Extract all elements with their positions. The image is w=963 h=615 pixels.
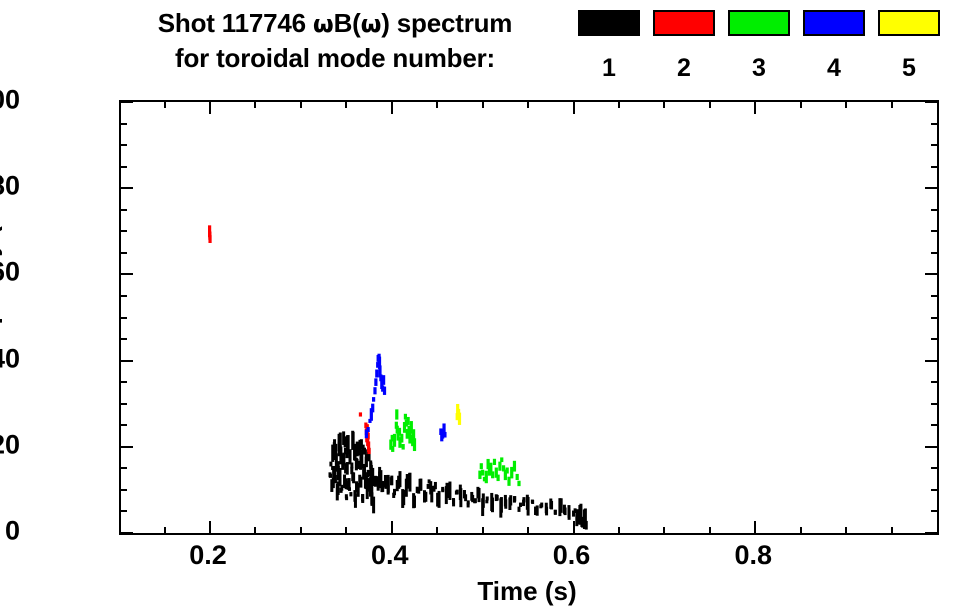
legend-label-row: 12345 [578,54,953,83]
series-n=5 [456,404,460,424]
data-mark [551,501,553,509]
data-mark [393,434,395,446]
data-mark [413,430,415,438]
data-mark [367,428,369,432]
data-mark [370,466,372,480]
data-mark [407,417,409,424]
data-mark [518,481,520,485]
data-mark [482,494,484,507]
data-mark [347,436,349,451]
data-mark [479,471,481,478]
data-mark [531,500,533,502]
data-mark [427,485,429,489]
data-mark [345,464,347,473]
data-mark [349,488,351,491]
data-mark [383,387,385,394]
data-mark [379,467,381,481]
y-tick-label: 0 [5,516,20,547]
y-tick-label: 80 [0,171,20,202]
data-mark [444,432,446,437]
data-mark [437,493,439,506]
data-mark [362,495,364,501]
data-mark [584,519,586,525]
data-mark [430,482,432,494]
omega-symbol-2: ω [361,10,382,38]
legend-label-1: 1 [578,54,640,83]
data-mark [519,503,521,506]
data-mark [337,466,339,480]
data-mark [486,500,488,502]
data-mark [376,370,378,377]
x-tick-label: 0.4 [371,540,409,571]
data-mark [477,487,479,497]
legend-label-4: 4 [803,54,865,83]
plot-area [121,102,937,533]
data-mark [560,499,562,513]
data-mark [508,477,510,485]
data-mark [480,464,482,469]
data-mark [413,439,415,451]
omega-symbol-1: ω [313,10,334,38]
data-mark [334,450,336,459]
data-mark [349,450,351,460]
data-mark [581,519,583,527]
data-mark [368,449,370,454]
plot-frame [119,100,939,535]
x-axis-label: Time (s) [119,576,935,607]
data-mark [338,442,340,455]
data-mark [359,413,361,416]
data-mark [514,497,516,501]
data-mark [373,398,375,402]
data-mark [352,473,354,481]
legend-swatch-4 [803,10,865,36]
data-mark [474,500,476,503]
legend-swatch-5 [878,10,940,36]
x-tick-label: 0.6 [553,540,591,571]
data-mark [564,508,566,515]
data-mark [396,410,398,419]
data-mark [554,510,556,513]
data-mark [486,497,488,500]
data-mark [513,461,515,471]
data-mark [516,474,518,479]
series-n=2 [209,226,371,454]
data-mark [374,388,376,394]
x-tick-label: 0.2 [189,540,227,571]
data-mark [344,437,346,447]
data-mark [387,477,389,492]
data-mark [497,475,499,480]
data-mark [458,413,460,424]
data-mark [393,493,395,497]
data-mark [340,488,342,492]
data-mark [455,491,457,494]
chart-title: Shot 117746 ωB(ω) spectrum for toroidal … [95,6,575,75]
y-tick-label: 20 [0,429,20,460]
data-mark [404,414,406,419]
data-mark [505,500,507,508]
data-mark [330,462,332,466]
data-mark [334,471,336,477]
data-mark [546,507,548,515]
data-mark [425,492,427,501]
legend-swatch-2 [653,10,715,36]
data-mark [453,499,455,504]
data-mark [371,493,373,506]
data-mark [359,475,361,483]
data-mark [209,236,211,243]
data-mark [496,495,498,500]
data-mark [330,474,332,477]
data-mark [372,404,374,412]
data-mark [535,507,537,514]
legend-swatch-3 [728,10,790,36]
data-mark [350,493,352,496]
data-mark [493,459,495,464]
data-mark [465,495,467,501]
data-mark [398,476,400,488]
legend-label-3: 3 [728,54,790,83]
data-mark [500,498,502,513]
data-mark [506,468,508,473]
data-mark [403,490,405,504]
data-mark [391,478,393,485]
data-mark [442,489,444,492]
legend-label-2: 2 [653,54,715,83]
data-mark [491,498,493,512]
data-mark [392,446,394,451]
data-mark [360,452,362,466]
data-mark [540,505,542,508]
data-mark [511,467,513,478]
data-mark [492,472,494,478]
data-mark [467,501,469,504]
legend-swatch-row [578,10,953,36]
data-mark [510,496,512,505]
data-mark [576,515,578,526]
data-mark [523,498,525,502]
data-mark [375,477,377,485]
data-mark [406,475,408,489]
data-mark [402,445,404,450]
data-mark [459,485,461,499]
data-mark [362,445,364,450]
data-mark [375,379,377,386]
y-tick-label: 40 [0,343,20,374]
data-mark [409,474,411,488]
data-mark [433,486,435,491]
data-canvas [121,102,937,533]
data-mark [413,496,415,507]
chart-title-line-2: for toroidal mode number: [95,41,575,75]
spectrogram-figure: Shot 117746 ωB(ω) spectrum for toroidal … [0,0,963,615]
data-mark [526,495,528,509]
data-mark [383,376,385,385]
data-mark [351,463,353,468]
x-tick-label: 0.8 [734,540,772,571]
legend-swatch-1 [578,10,640,36]
data-mark [401,434,403,442]
data-mark [447,484,449,498]
data-mark [499,462,501,470]
data-mark [568,510,570,519]
y-tick-label: 100 [0,85,20,116]
data-mark [501,458,503,462]
y-tick-label: 60 [0,257,20,288]
data-mark [409,433,411,443]
data-mark [381,484,383,492]
legend-label-5: 5 [878,54,940,83]
data-mark [346,497,348,500]
chart-title-line-1: Shot 117746 ωB(ω) spectrum [95,6,575,41]
data-mark [485,471,487,482]
data-mark [419,479,421,488]
data-mark [482,470,484,475]
data-mark [356,482,358,492]
data-mark [518,507,520,511]
legend: 12345 [578,10,953,90]
